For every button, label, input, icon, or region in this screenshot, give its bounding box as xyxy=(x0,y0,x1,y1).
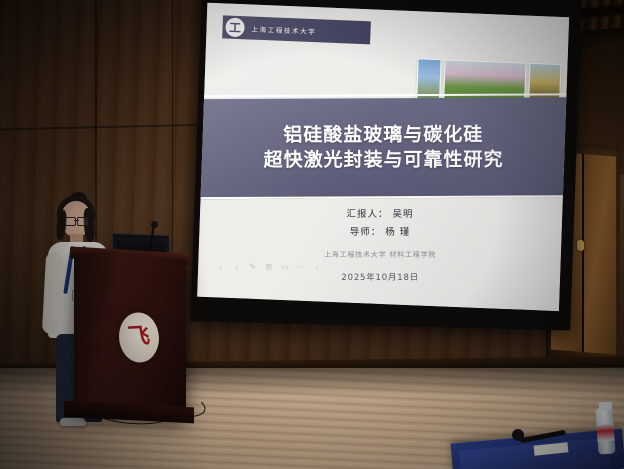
presenter-label: 汇报人： 吴明 xyxy=(199,206,561,224)
pen-tool-icon[interactable]: ✎ xyxy=(248,262,257,271)
previous-slide-icon[interactable]: ‹ xyxy=(216,262,225,271)
zoom-slide-icon[interactable]: ▭ xyxy=(280,262,289,271)
podium-emblem: 飞 xyxy=(119,311,159,363)
screen-surface: 工 上海工程技术大学 铝硅酸盐玻璃与碳化硅 超快激光封装与可靠性研究 xyxy=(197,3,569,311)
handheld-microphone-head xyxy=(512,429,524,441)
more-options-icon[interactable]: ⋯ xyxy=(296,262,305,271)
all-slides-icon[interactable]: ⊞ xyxy=(264,262,273,271)
glasses-icon xyxy=(65,217,88,224)
slide-title-line-1: 铝硅酸盐玻璃与碳化硅 xyxy=(283,123,483,148)
university-seal-mark: 工 xyxy=(229,21,241,33)
door-handle-icon[interactable] xyxy=(577,240,584,252)
water-bottle-cap xyxy=(599,402,613,411)
affiliation-label: 上海工程技术大学 材料工程学院 xyxy=(199,250,561,261)
university-logo-bar: 工 上海工程技术大学 xyxy=(222,15,371,44)
next-slide-icon[interactable]: › xyxy=(232,262,241,271)
glasses-lens-left xyxy=(65,217,76,226)
slideshow-toolbar[interactable]: ‹ › ✎ ⊞ ▭ ⋯ ‹ xyxy=(216,262,321,271)
university-name-label: 上海工程技术大学 xyxy=(251,23,316,36)
slide-title-line-2: 超快激光封装与可靠性研究 xyxy=(263,148,503,173)
slide-meta-block: 汇报人： 吴明 导师： 杨 瑾 上海工程技术大学 材料工程学院 2025年10月… xyxy=(199,206,561,284)
door-leaf-right xyxy=(584,154,616,355)
presentation-date: 2025年10月18日 xyxy=(199,271,561,284)
university-seal-icon: 工 xyxy=(225,18,245,38)
lecture-hall-photo: 工 上海工程技术大学 铝硅酸盐玻璃与碳化硅 超快激光封装与可靠性研究 xyxy=(0,0,624,469)
water-bottle-label xyxy=(596,423,614,441)
slide-title: 铝硅酸盐玻璃与碳化硅 超快激光封装与可靠性研究 xyxy=(202,102,565,195)
glasses-lens-right xyxy=(77,217,88,226)
podium-emblem-mark: 飞 xyxy=(127,326,151,349)
glasses-bridge xyxy=(74,220,79,221)
advisor-label: 导师： 杨 瑾 xyxy=(199,223,561,241)
end-show-icon[interactable]: ‹ xyxy=(312,262,321,271)
presentation-slide: 工 上海工程技术大学 铝硅酸盐玻璃与碳化硅 超快激光封装与可靠性研究 xyxy=(197,3,569,311)
projection-screen: 工 上海工程技术大学 铝硅酸盐玻璃与碳化硅 超快激光封装与可靠性研究 xyxy=(190,0,581,331)
door-gap xyxy=(582,154,584,352)
shoe xyxy=(60,418,86,426)
